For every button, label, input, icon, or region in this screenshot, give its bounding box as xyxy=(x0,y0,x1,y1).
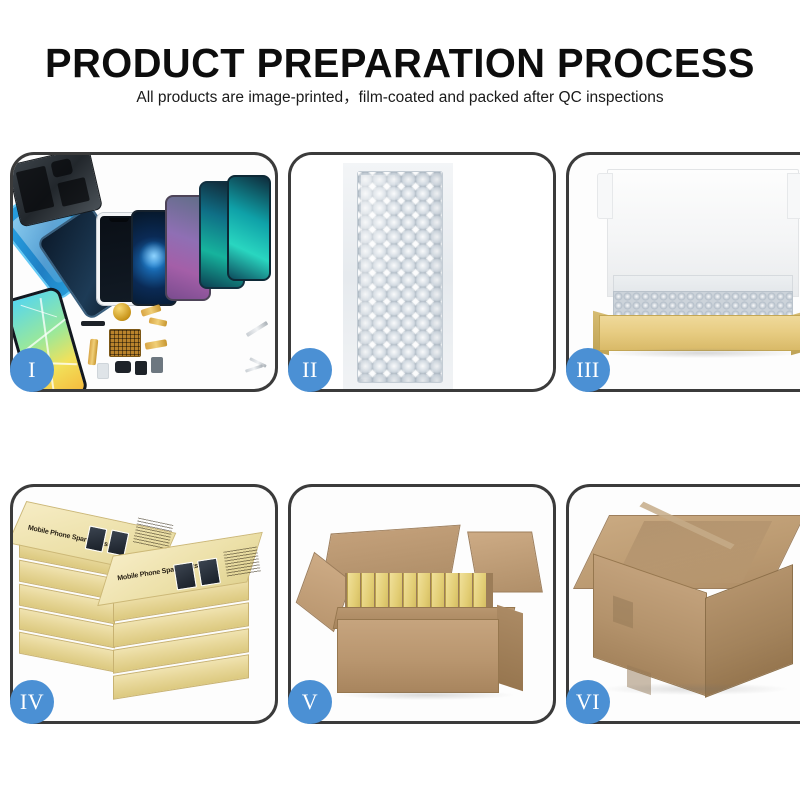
box-screen-image xyxy=(173,562,197,591)
carton-side-right xyxy=(497,605,523,691)
part-camera-module xyxy=(115,361,131,373)
part-flex-cable xyxy=(149,317,168,327)
part-flex-cable xyxy=(140,304,161,317)
housing-camera xyxy=(50,158,73,178)
box-lid-tab-left xyxy=(597,173,613,219)
part-screwdriver xyxy=(246,321,268,337)
part-button xyxy=(135,361,147,375)
phone-parts-scene xyxy=(13,155,275,389)
housing-battery xyxy=(16,166,55,214)
step-2-image xyxy=(291,155,553,389)
part-speaker xyxy=(81,321,105,326)
box-lid-tab-right xyxy=(787,173,800,219)
part-vibrator-motor xyxy=(113,303,131,321)
part-flex-strip xyxy=(88,339,99,366)
box-screen-image xyxy=(197,558,221,587)
step-badge-2: II xyxy=(288,348,332,392)
carton-loading-scene xyxy=(291,487,553,721)
stacked-boxes-scene: Mobile Phone Spare Parts Mobile Phone Sp… xyxy=(13,487,275,721)
step-panel-1: I xyxy=(10,152,278,392)
step-panel-5: V xyxy=(288,484,556,724)
part-battery-connector xyxy=(151,357,163,373)
carton-front-face xyxy=(337,619,499,693)
bubble-wrap-pouch xyxy=(357,171,443,383)
step-badge-5: V xyxy=(288,680,332,724)
bubble-wrap-scene xyxy=(291,155,553,389)
step-badge-6: VI xyxy=(566,680,610,724)
step-5-image xyxy=(291,487,553,721)
housing-board xyxy=(57,177,90,207)
carton-shadow xyxy=(341,690,513,700)
phone-display-teal-2 xyxy=(227,175,271,281)
carton-shadow xyxy=(603,683,787,695)
step-panel-6: VI xyxy=(566,484,800,724)
step-badge-1: I xyxy=(10,348,54,392)
product-preparation-process-graphic: PRODUCT PREPARATION PROCESS All products… xyxy=(0,0,800,800)
step-4-image: Mobile Phone Spare Parts Mobile Phone Sp… xyxy=(13,487,275,721)
phone-notch xyxy=(109,218,129,222)
page-subtitle: All products are image-printed，film-coat… xyxy=(0,88,800,108)
part-tweezers xyxy=(245,364,263,372)
header: PRODUCT PREPARATION PROCESS All products… xyxy=(0,0,800,140)
part-connector-array xyxy=(109,329,141,357)
step-panel-4: Mobile Phone Spare Parts Mobile Phone Sp… xyxy=(10,484,278,724)
step-panel-2: II xyxy=(288,152,556,392)
step-1-image xyxy=(13,155,275,389)
step-badge-4: IV xyxy=(10,680,54,724)
box-spec-lines xyxy=(223,547,261,578)
box-shadow xyxy=(605,348,800,358)
step-badge-3: III xyxy=(566,348,610,392)
part-sim-tray xyxy=(97,363,109,379)
box-front-panel xyxy=(599,315,800,351)
part-flex-cable xyxy=(145,339,168,350)
step-panel-3: III xyxy=(566,152,800,392)
page-title: PRODUCT PREPARATION PROCESS xyxy=(12,41,788,85)
crack-line xyxy=(21,305,57,318)
